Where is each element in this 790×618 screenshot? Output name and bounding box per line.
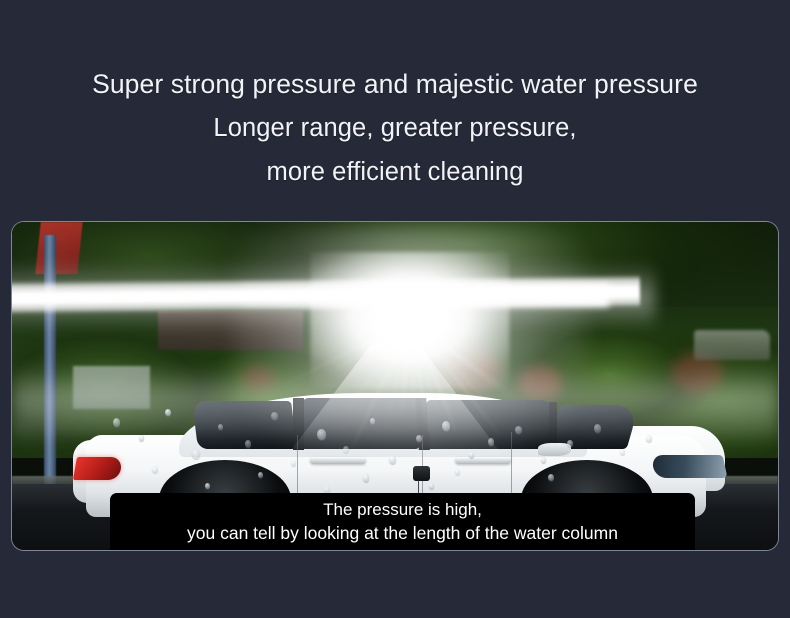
- photo-scene: The pressure is high, you can tell by lo…: [12, 222, 778, 550]
- headlight: [651, 455, 728, 478]
- water-jet: [12, 274, 640, 314]
- water-droplet: [324, 486, 330, 493]
- page-title: Super strong pressure and majestic water…: [0, 62, 790, 194]
- water-droplet: [429, 483, 434, 489]
- caption-line-2: you can tell by looking at the length of…: [187, 522, 618, 544]
- taillight: [73, 457, 123, 480]
- water-droplet: [548, 474, 554, 481]
- water-droplet: [152, 466, 158, 473]
- water-droplet: [192, 449, 200, 459]
- promo-banner-page: Super strong pressure and majestic water…: [0, 0, 790, 618]
- water-droplet: [258, 472, 263, 478]
- headline-line-3: more efficient cleaning: [0, 150, 790, 194]
- water-droplet: [620, 449, 625, 455]
- caption-line-1: The pressure is high,: [323, 499, 482, 520]
- headline-line-1: Super strong pressure and majestic water…: [0, 62, 790, 106]
- water-droplet: [205, 483, 210, 489]
- headline-line-2: Longer range, greater pressure,: [0, 106, 790, 150]
- distant-parked-car: [694, 330, 771, 360]
- photo-caption: The pressure is high, you can tell by lo…: [110, 493, 695, 550]
- product-photo: The pressure is high, you can tell by lo…: [12, 222, 778, 550]
